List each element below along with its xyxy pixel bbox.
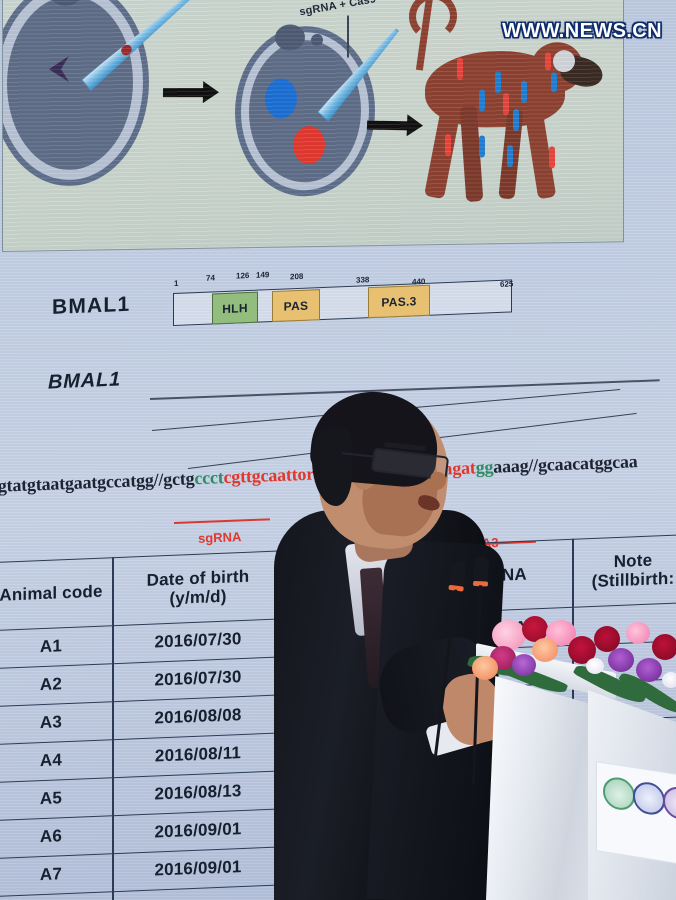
polar-body-2 [275, 24, 305, 50]
zona-pellucida-2 [235, 25, 375, 197]
table-header-note-line2: (Stillbirth: [592, 569, 675, 591]
sgrna-cas9-label: sgRNA + Cas9 [299, 0, 377, 18]
edit-marker-red-2 [503, 93, 509, 115]
sgrna1-label: sgRNA [198, 529, 242, 546]
monkey-hind-leg-2 [460, 105, 484, 202]
table-row: A6 [0, 815, 112, 858]
table-row: A3 [0, 701, 112, 744]
table-header-date-of-birth: Date of birth (y/m/d) [112, 550, 284, 625]
bmal1-protein-label: BMAL1 [52, 293, 130, 320]
speaker-sideburn [312, 428, 352, 506]
table-header-note: Note (Stillbirth: [572, 534, 676, 607]
edit-marker-blue-3 [521, 81, 527, 103]
micropipette-shaft-1 [81, 0, 204, 91]
polar-body-2b [311, 34, 323, 46]
edit-marker-blue-4 [513, 109, 519, 131]
bmal1-gene-label: BMAL1 [48, 368, 121, 394]
table-header-animal-code: Animal code [0, 557, 112, 630]
flower-white-1 [586, 658, 604, 674]
microphone-right-capsule [473, 556, 489, 583]
tick-208: 208 [290, 272, 303, 282]
female-pronucleus [293, 126, 325, 165]
edit-marker-red-1 [457, 58, 463, 80]
flower-peach-rose-2 [472, 656, 498, 680]
table-header-dob-line2: (y/m/d) [169, 587, 226, 608]
flower-crimson-rose-4 [652, 634, 676, 660]
oocyte-cell-2 [235, 25, 375, 197]
tick-74: 74 [206, 273, 215, 282]
edit-marker-blue-2 [479, 89, 485, 111]
microphone-left-capsule [449, 560, 467, 588]
sgrna-cas9-leader-line [347, 16, 349, 58]
tick-149: 149 [256, 270, 269, 280]
tick-338: 338 [356, 275, 369, 285]
table-row: A5 [0, 777, 112, 820]
table-header-note-line1: Note [614, 551, 653, 572]
monkey-tail [416, 0, 433, 71]
edit-marker-blue-1 [495, 71, 501, 93]
cytoplasm-2 [249, 39, 361, 183]
tick-1: 1 [174, 279, 178, 288]
flower-purple-orchid-2 [608, 648, 634, 672]
podium-logo-2-icon [633, 780, 665, 817]
monkey-eye-patch [553, 50, 575, 72]
flower-arrangement [476, 614, 676, 734]
tick-625: 625 [500, 279, 513, 289]
workflow-arrow-1 [163, 88, 205, 97]
workflow-arrow-2 [367, 121, 409, 131]
flower-pink-lily-1 [492, 620, 526, 650]
oocyte-cell-1 [2, 0, 149, 187]
cytoplasm-1 [7, 0, 133, 171]
tick-440: 440 [412, 277, 425, 287]
table-header-dob-line1: Date of birth [147, 567, 250, 590]
podium-logo-1-icon [603, 775, 635, 812]
edit-marker-blue-6 [479, 135, 485, 157]
edit-marker-red-5 [549, 146, 555, 168]
monkey-torso [425, 50, 565, 128]
flower-peach-rose-1 [532, 638, 558, 662]
monkey-tail-curl [409, 0, 457, 41]
flower-purple-orchid-3 [636, 658, 662, 682]
sequence-green-1: ccct [194, 467, 224, 488]
screenshot-root: sgRNA + Cas9 [0, 0, 676, 900]
flower-pink-2 [626, 622, 650, 644]
zona-pellucida-1 [2, 0, 149, 187]
monkey-hind-leg [424, 101, 462, 199]
flower-purple-orchid-1 [512, 654, 536, 676]
domain-pas: PAS [272, 289, 320, 322]
podium-logo-3-icon [663, 785, 676, 822]
table-row: A4 [0, 739, 112, 782]
chromosome-marker-1 [49, 56, 69, 82]
monkey-front-leg-2 [498, 108, 523, 199]
monkey-muzzle [558, 52, 607, 91]
micropipette-shaft-2 [317, 25, 403, 122]
table-row: A1 [0, 625, 112, 668]
domain-hlh: HLH [212, 292, 258, 325]
monkey-front-leg [524, 104, 556, 200]
tick-126: 126 [236, 271, 249, 281]
domain-pas3: PAS.3 [368, 285, 430, 318]
table-row: A7 [0, 853, 112, 896]
aspirated-nucleus-1 [119, 43, 134, 58]
polar-body-1 [49, 0, 83, 6]
edit-marker-red-3 [545, 52, 551, 70]
table-row: 2016/09/01 [112, 846, 284, 891]
table-row: A2 [0, 663, 112, 706]
podium-logo-plate [596, 761, 676, 865]
flower-white-2 [662, 672, 676, 688]
edit-marker-blue-7 [507, 145, 513, 167]
male-pronucleus [265, 78, 297, 119]
edit-marker-red-4 [445, 134, 451, 156]
news-watermark: WWW.NEWS.CN [502, 20, 662, 43]
bmal1-protein-bar: HLH PAS PAS.3 [173, 279, 512, 326]
edit-marker-blue-5 [551, 72, 557, 92]
monkey-head [531, 42, 583, 93]
